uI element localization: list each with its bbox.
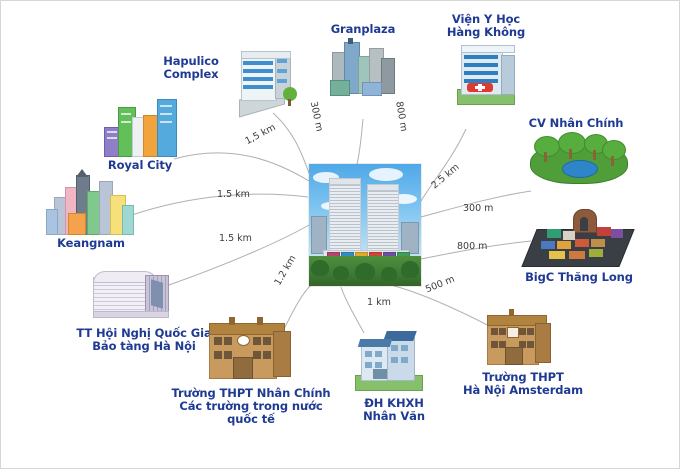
bush [355, 263, 375, 280]
bush [401, 261, 419, 278]
amenity-label: Trường THPT Hà Nội Amsterdam [453, 371, 593, 397]
distance-amsterdam: 1 km [367, 297, 391, 308]
cloud-icon [369, 168, 403, 181]
school-icon [199, 313, 309, 385]
distance-keangnam: 1.5 km [219, 233, 252, 244]
distance-cv-nhan-chinh: 2.5 km [429, 162, 461, 192]
amenity-dh-khxh-nhan-van[interactable]: ĐH KHXH Nhân Văn [339, 329, 449, 423]
amenity-royal-city[interactable]: Royal City [97, 95, 183, 172]
tower-right [367, 188, 399, 254]
amenity-label: ĐH KHXH Nhân Văn [339, 397, 449, 423]
amenity-label: BigC Thăng Long [509, 271, 649, 284]
amenity-label: Viện Y Học Hàng Không [426, 13, 546, 39]
side-building [311, 216, 327, 254]
bush [381, 267, 397, 281]
skyline-icon [42, 169, 140, 235]
hospital-icon [427, 43, 545, 109]
city-towers-icon [98, 95, 182, 157]
tower-right-cap [367, 184, 399, 191]
office-building-icon [231, 49, 297, 115]
connector-royal-city [174, 153, 309, 181]
bush [311, 260, 329, 276]
distance-thpt-nhan-chinh: 1.2 km [272, 254, 298, 288]
distance-royal-city: 1.5 km [217, 189, 250, 200]
bush [333, 266, 349, 280]
distance-hapulico: 1,5 km [243, 122, 277, 147]
tower-left [329, 182, 361, 254]
distance-tt-hoi-nghi: 800 m [457, 241, 487, 252]
connector-hapulico [273, 113, 309, 173]
amenity-label: Hapulico Complex [153, 55, 229, 81]
amenity-bigc-thang-long[interactable]: BigC Thăng Long [509, 207, 649, 284]
amenity-map: Hapulico Complex 1,5 km [0, 0, 680, 469]
distance-vien-y-hoc: 800 m [393, 101, 409, 133]
central-project-photo [309, 164, 421, 286]
park-icon [520, 132, 640, 188]
amenity-keangnam[interactable]: Keangnam [41, 169, 141, 250]
amenity-label: Keangnam [41, 237, 141, 250]
school-icon [473, 307, 573, 369]
connector-granplaza [357, 119, 363, 164]
tree-icon [558, 132, 586, 154]
distance-dh-khxh: 500 m [424, 274, 456, 296]
distance-granplaza: 300 m [308, 100, 325, 132]
tower-left-cap [329, 178, 361, 185]
tree-icon [602, 140, 626, 160]
amenity-vien-y-hoc-hang-khong[interactable]: Viện Y Học Hàng Không [426, 13, 546, 109]
amenity-label: CV Nhân Chính [506, 117, 646, 130]
market-icon [519, 207, 639, 269]
tree-icon [534, 136, 560, 157]
amenity-granplaza[interactable]: Granplaza [313, 23, 413, 100]
amenity-truong-thpt-ha-noi-amsterdam[interactable]: Trường THPT Hà Nội Amsterdam [453, 307, 593, 397]
amenity-truong-thpt-nhan-chinh[interactable]: Trường THPT Nhân Chính Các trường trong … [151, 313, 351, 426]
distance-bigc: 300 m [463, 203, 493, 214]
connector-vien-y-hoc [421, 129, 466, 201]
amenity-label: Trường THPT Nhân Chính Các trường trong … [151, 387, 351, 426]
tower-cluster-icon [314, 38, 412, 100]
amenity-label: Granplaza [313, 23, 413, 36]
university-icon [343, 329, 443, 395]
amenity-cv-nhan-chinh[interactable]: CV Nhân Chính [506, 117, 646, 188]
